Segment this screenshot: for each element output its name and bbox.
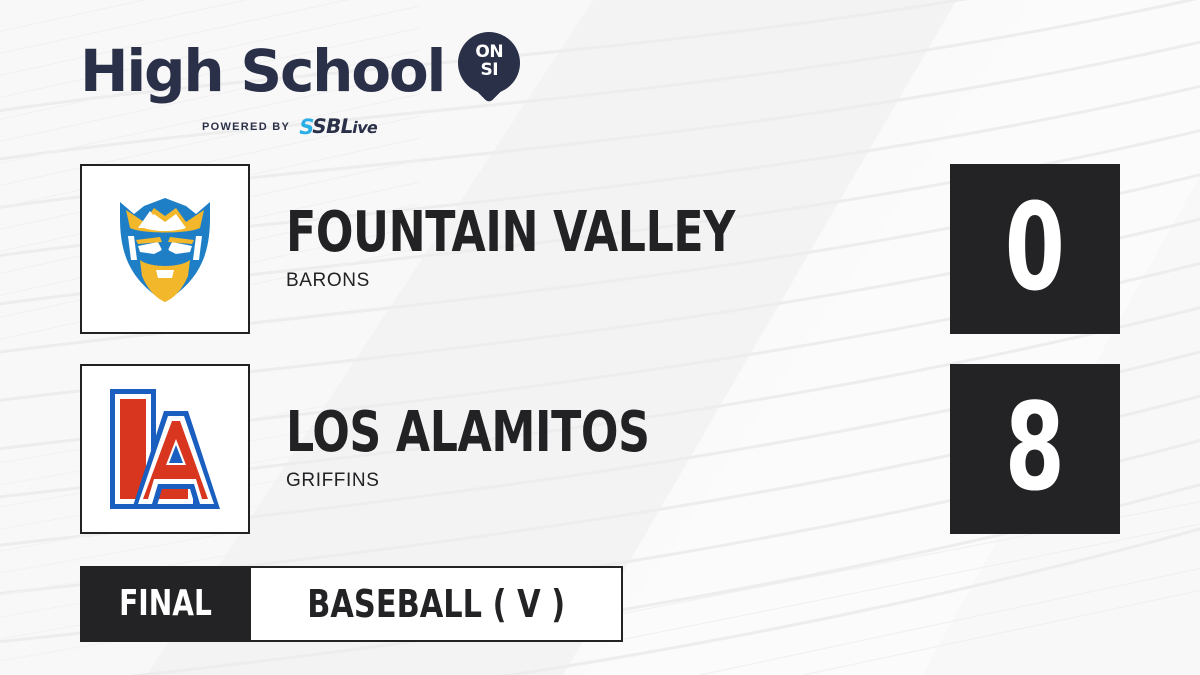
los-alamitos-la-monogram-logo [102,383,228,515]
team-logo-card-home [80,364,250,534]
score-value-home: 8 [1005,389,1065,509]
score-box-home: 8 [950,364,1120,534]
on-si-pin-icon: ON SI [458,32,520,110]
powered-by-row: POWERED BY S SBLive [202,116,520,138]
pin-text: ON SI [458,43,520,79]
team-text-away: FOUNTAIN VALLEY BARONS [286,164,854,334]
team-nickname-away: BARONS [286,270,854,292]
sblive-s-mark-icon: S [297,117,311,138]
status-bar: FINAL BASEBALL ( V ) [80,566,623,642]
sblive-wordmark: SBLive [310,116,380,138]
baron-king-head-logo [100,184,230,314]
team-row-away: FOUNTAIN VALLEY BARONS 0 [80,164,1120,334]
status-sport-box: BASEBALL ( V ) [251,566,623,642]
team-text-home: LOS ALAMITOS GRIFFINS [286,364,746,534]
sblive-word-tail: ive [351,118,380,137]
score-value-away: 0 [1005,189,1065,309]
powered-by-label: POWERED BY [202,121,290,133]
sblive-word-main: SBL [310,114,355,138]
brand-header: High School ON SI POWERED BY S SBLive [80,32,520,138]
team-name-home: LOS ALAMITOS [286,406,650,460]
team-name-away: FOUNTAIN VALLEY [286,206,735,260]
team-logo-card-away [80,164,250,334]
team-nickname-home: GRIFFINS [286,470,746,492]
high-school-wordmark: High School [80,42,444,100]
logo-row: High School ON SI [80,32,520,110]
team-row-home: LOS ALAMITOS GRIFFINS 8 [80,364,1120,534]
sblive-logo: S SBLive [299,116,378,138]
pin-text-line2: SI [458,61,520,79]
score-box-away: 0 [950,164,1120,334]
status-badge-final: FINAL [80,566,251,642]
pin-text-line1: ON [458,43,520,61]
status-final-label: FINAL [119,586,212,622]
status-sport-label: BASEBALL ( V ) [307,585,565,623]
